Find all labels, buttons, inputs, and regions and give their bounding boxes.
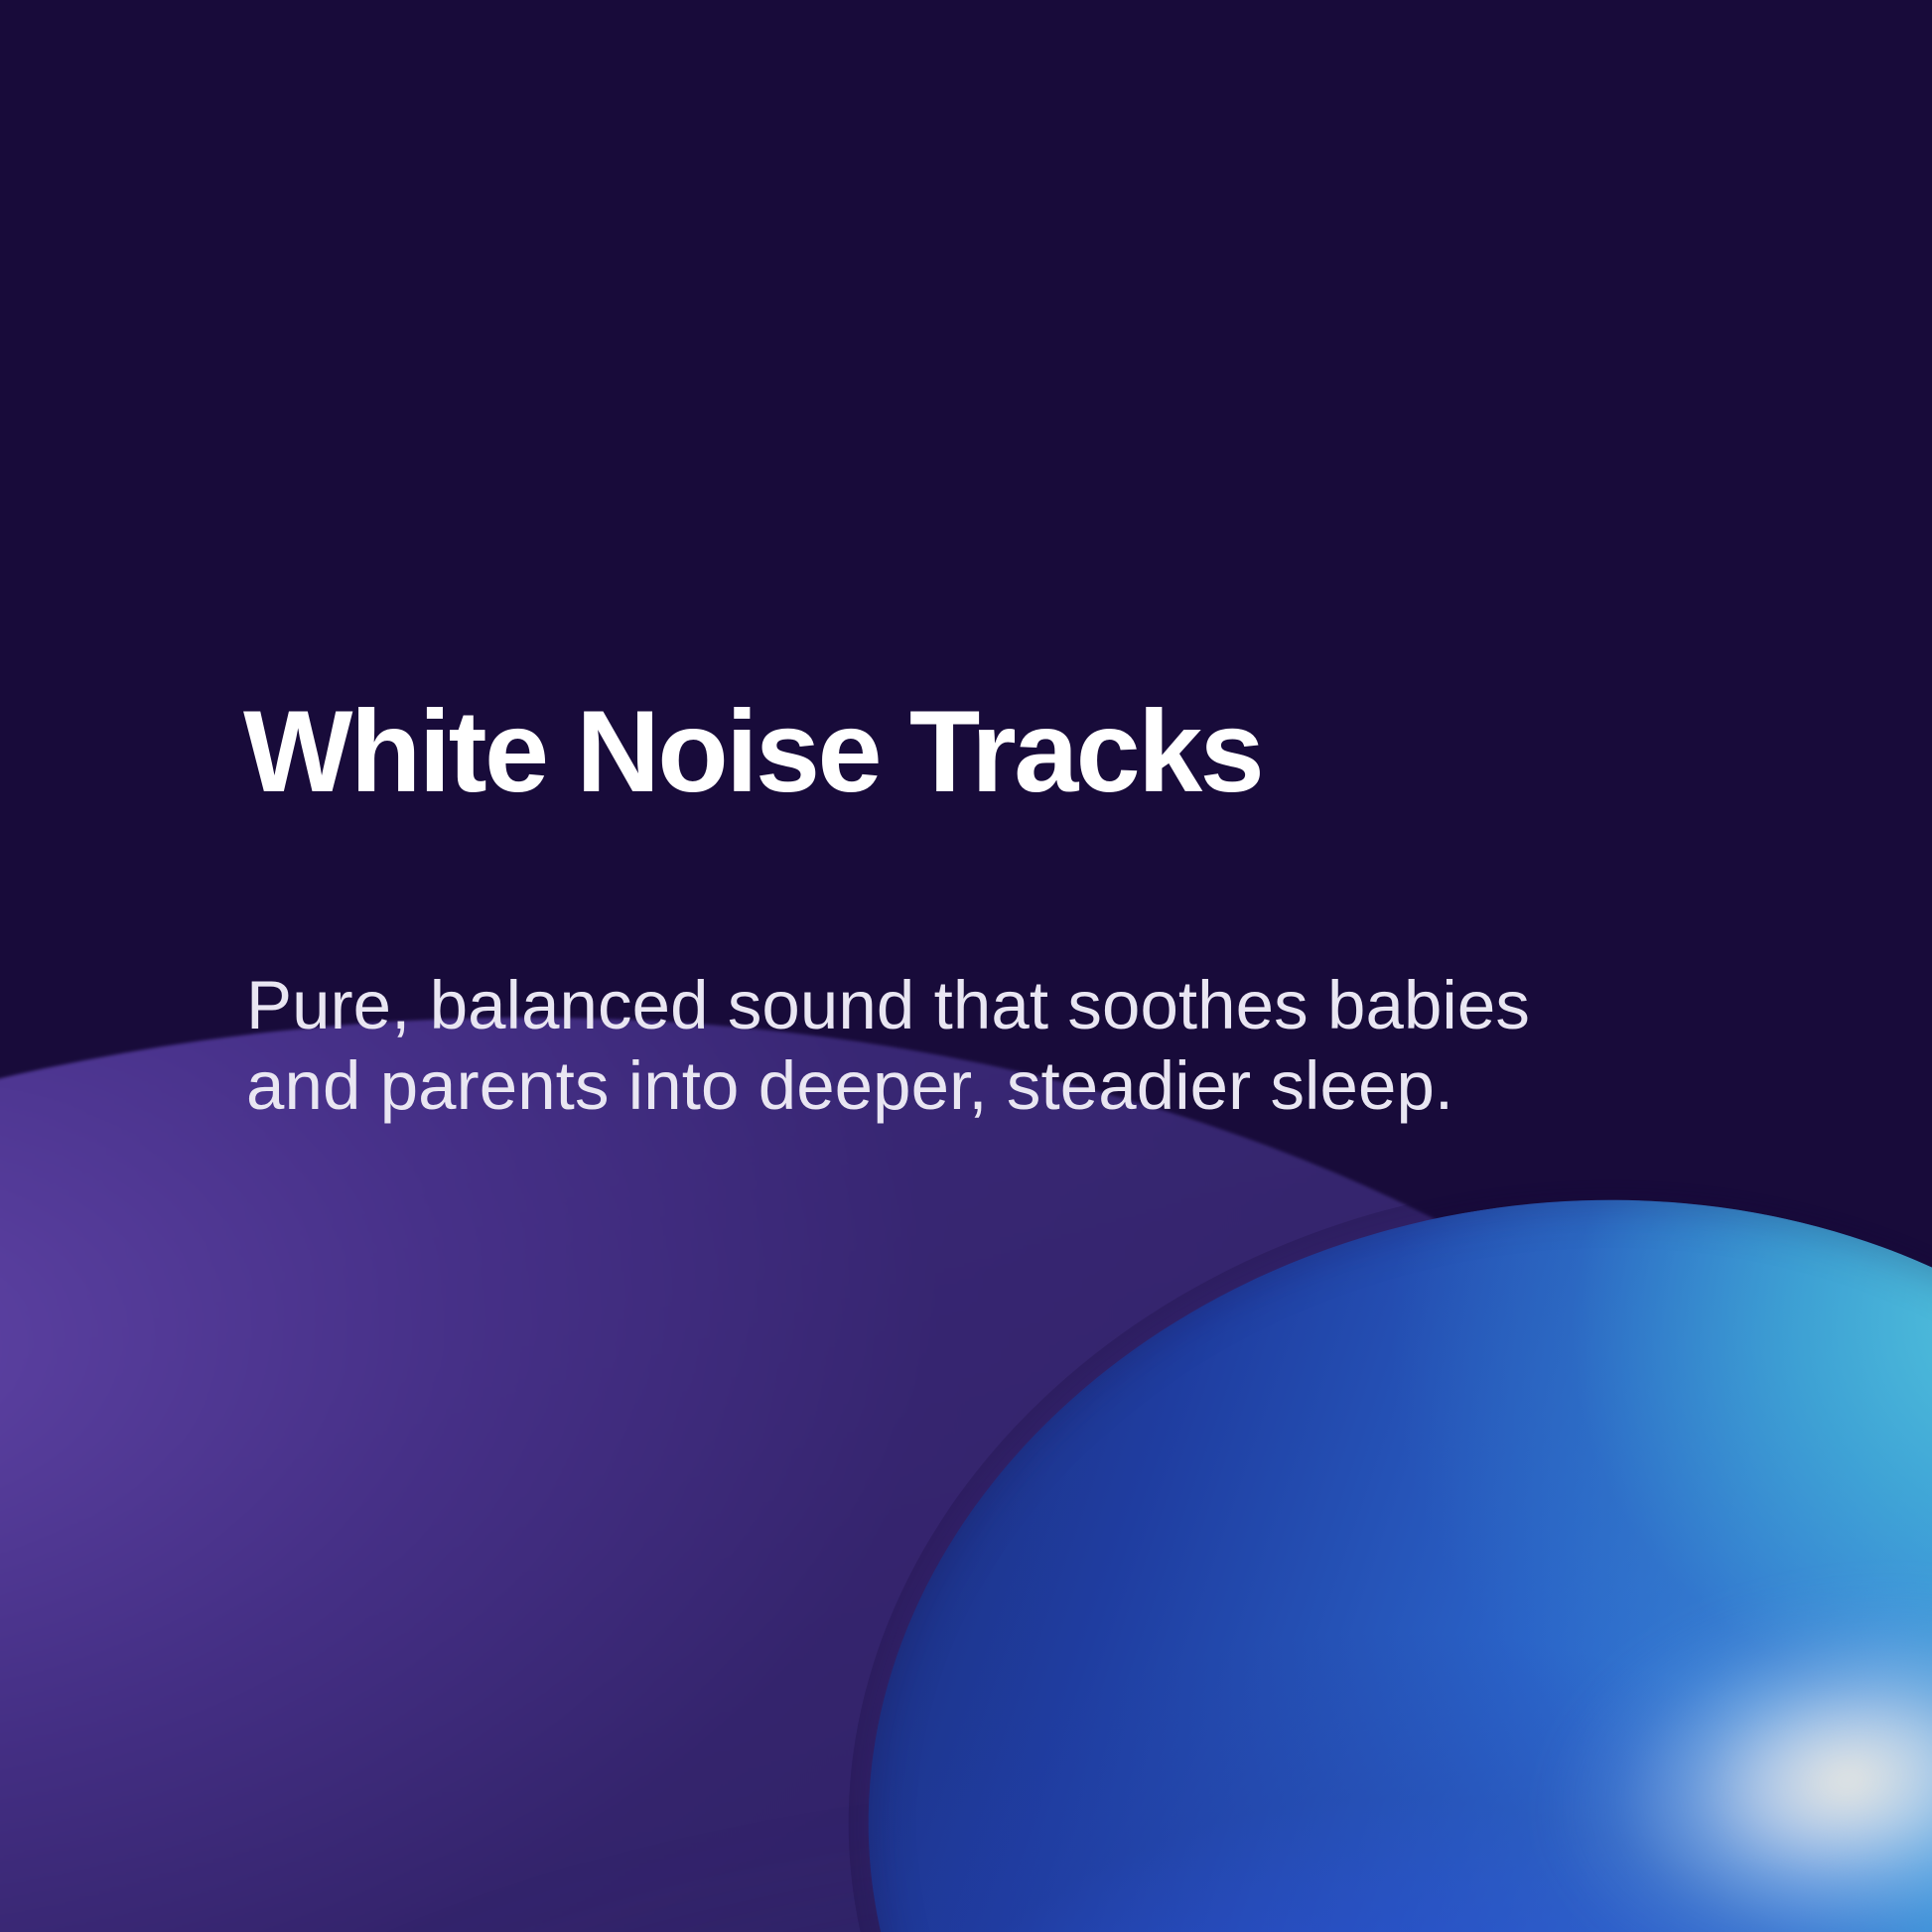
text-content: White Noise Tracks Pure, balanced sound … (243, 0, 1653, 1932)
page-title: White Noise Tracks (243, 693, 1262, 809)
promo-card: White Noise Tracks Pure, balanced sound … (0, 0, 1932, 1932)
subtitle-line-2: and parents into deeper, steadier sleep. (246, 1045, 1527, 1126)
page-subtitle: Pure, balanced sound that soothes babies… (246, 965, 1527, 1126)
subtitle-line-1: Pure, balanced sound that soothes babies (246, 965, 1527, 1045)
